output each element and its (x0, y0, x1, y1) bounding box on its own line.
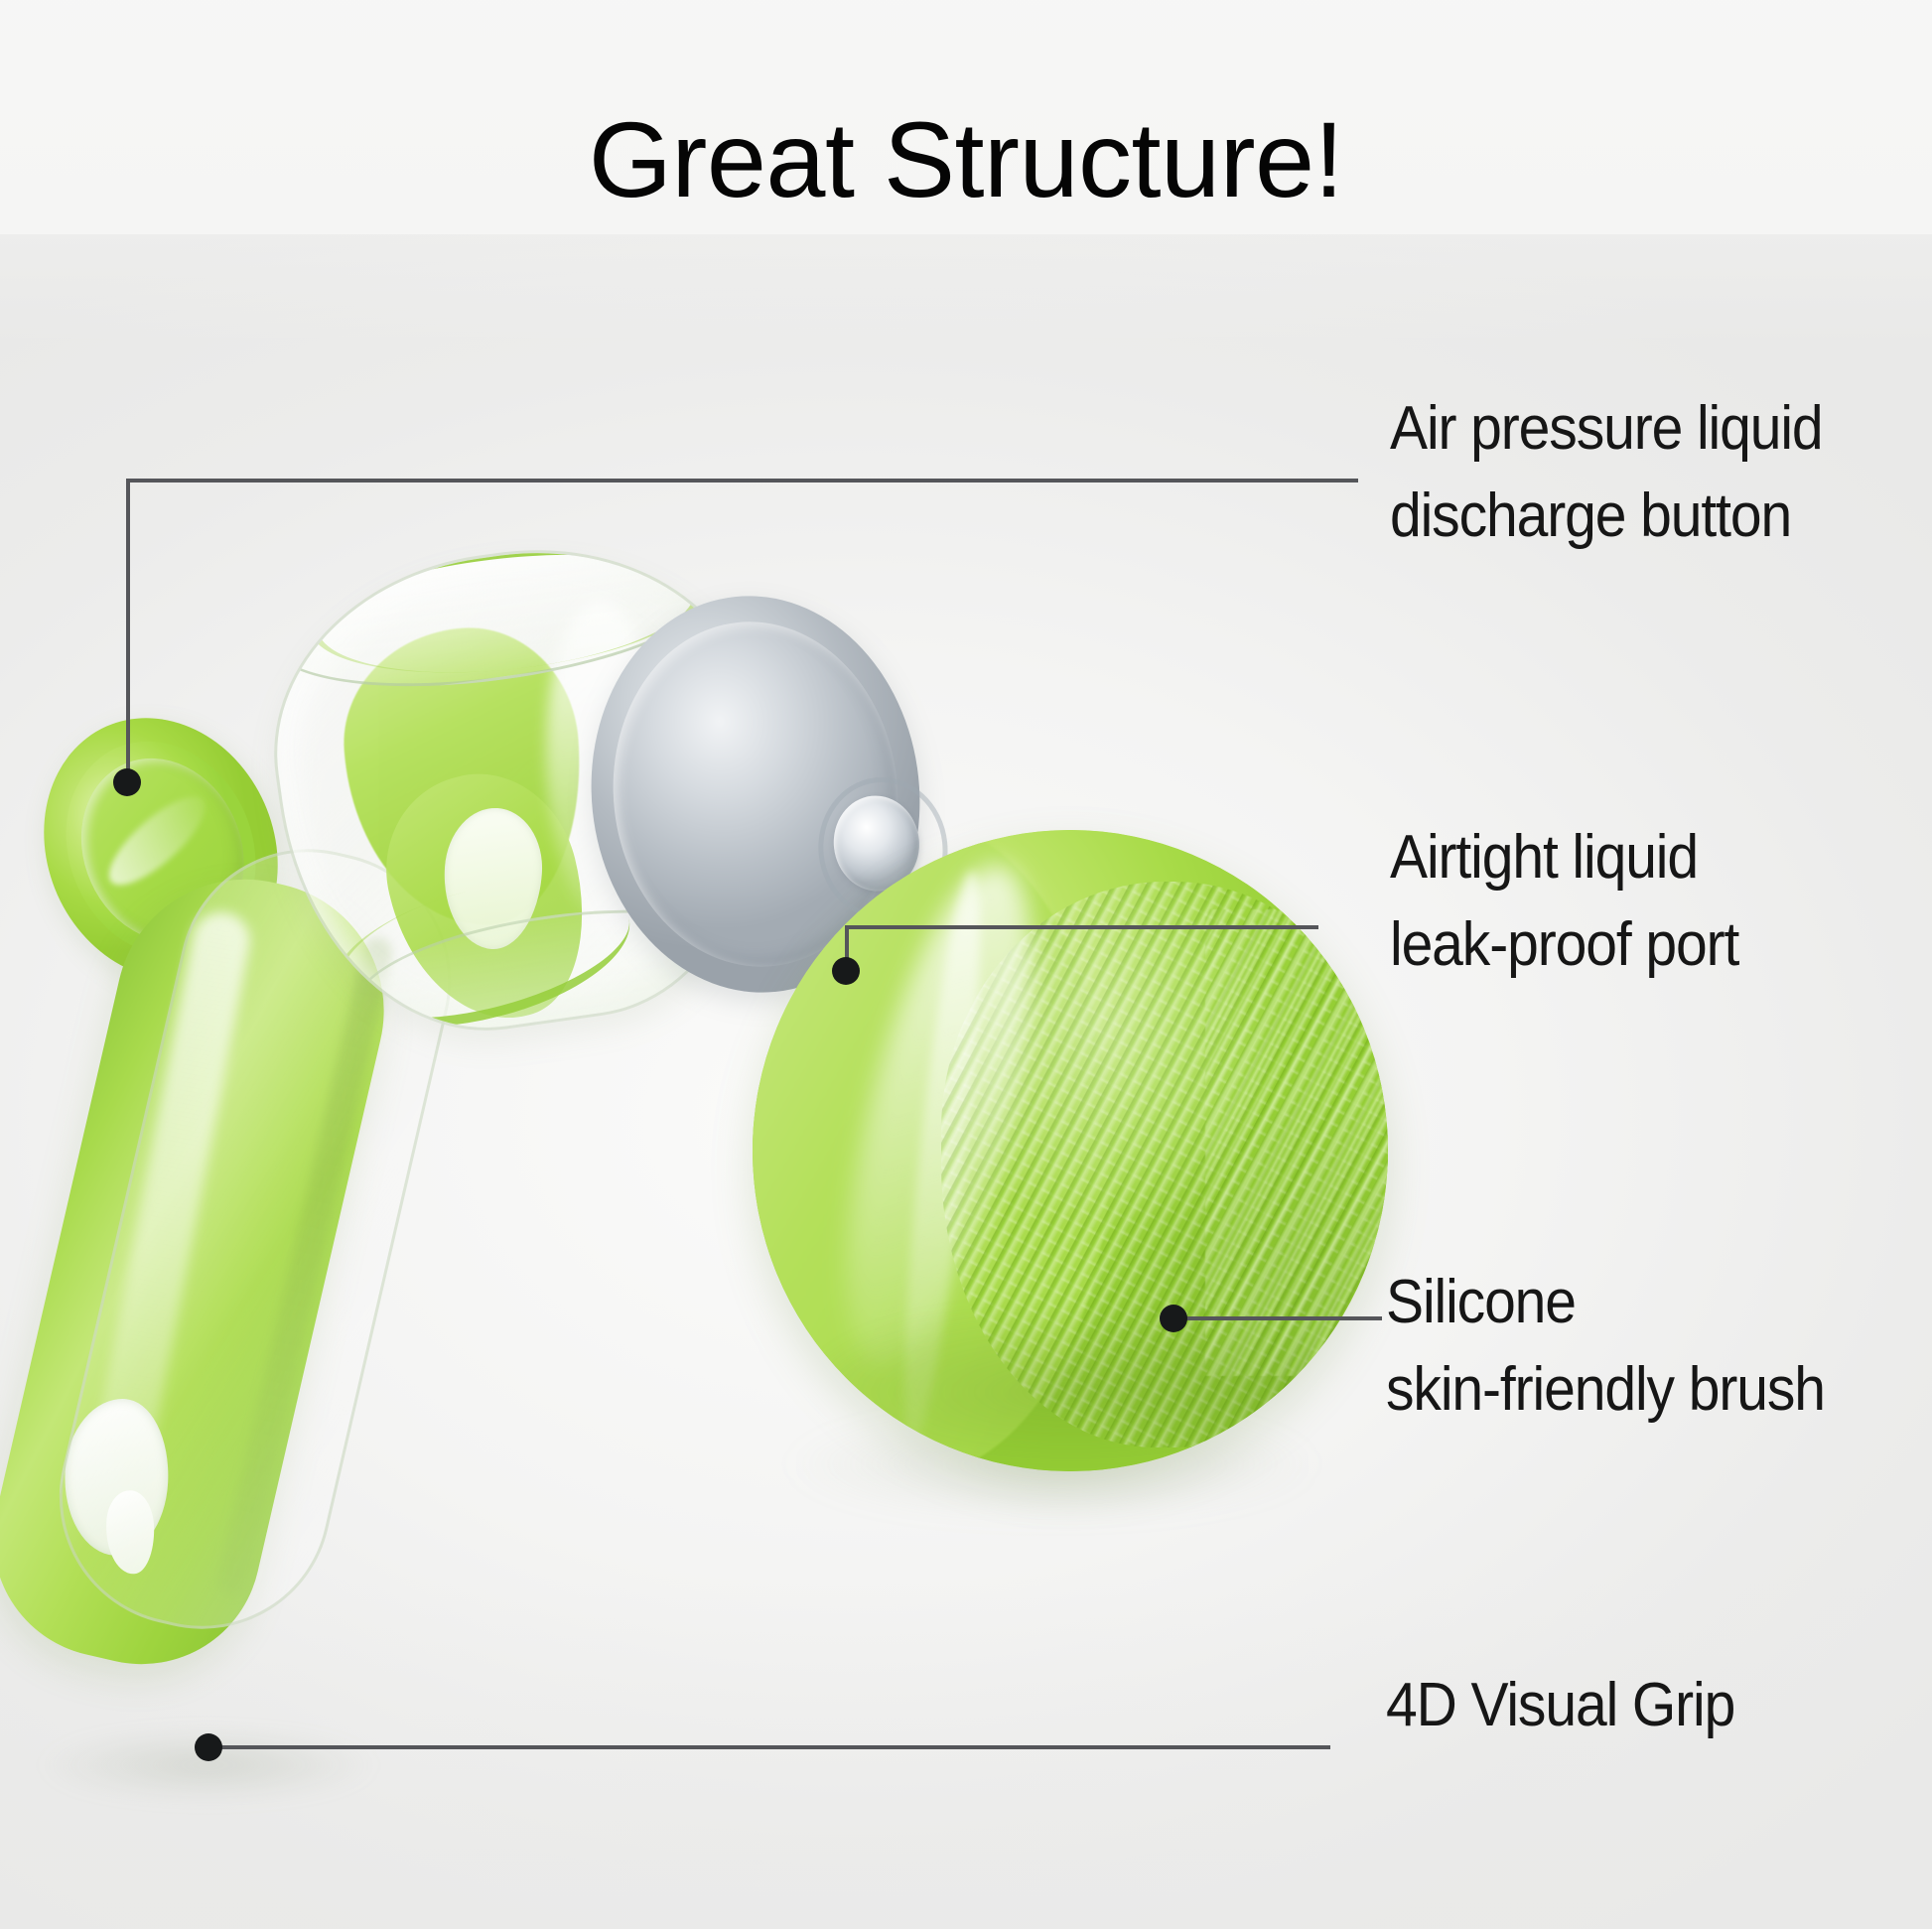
handle-drop-shadow (40, 1729, 377, 1801)
callout-label-silicone-skin-friendly-brush: Silicone skin-friendly brush (1386, 1259, 1825, 1434)
page-title: Great Structure! (0, 103, 1932, 216)
brush-bottom-shadow (812, 1303, 1328, 1471)
silicone-brush-head (753, 830, 1388, 1471)
callout-label-air-pressure-liquid-discharge-button: Air pressure liquid discharge button (1390, 385, 1823, 560)
callout-label-airtight-liquid-leak-proof-port: Airtight liquid leak-proof port (1390, 814, 1738, 989)
callout-label-4d-visual-grip: 4D Visual Grip (1386, 1662, 1734, 1749)
infographic-page: Great Structure! Air pressure liquid dis… (0, 0, 1932, 1929)
brush-bristle-fringe (1205, 909, 1388, 1376)
